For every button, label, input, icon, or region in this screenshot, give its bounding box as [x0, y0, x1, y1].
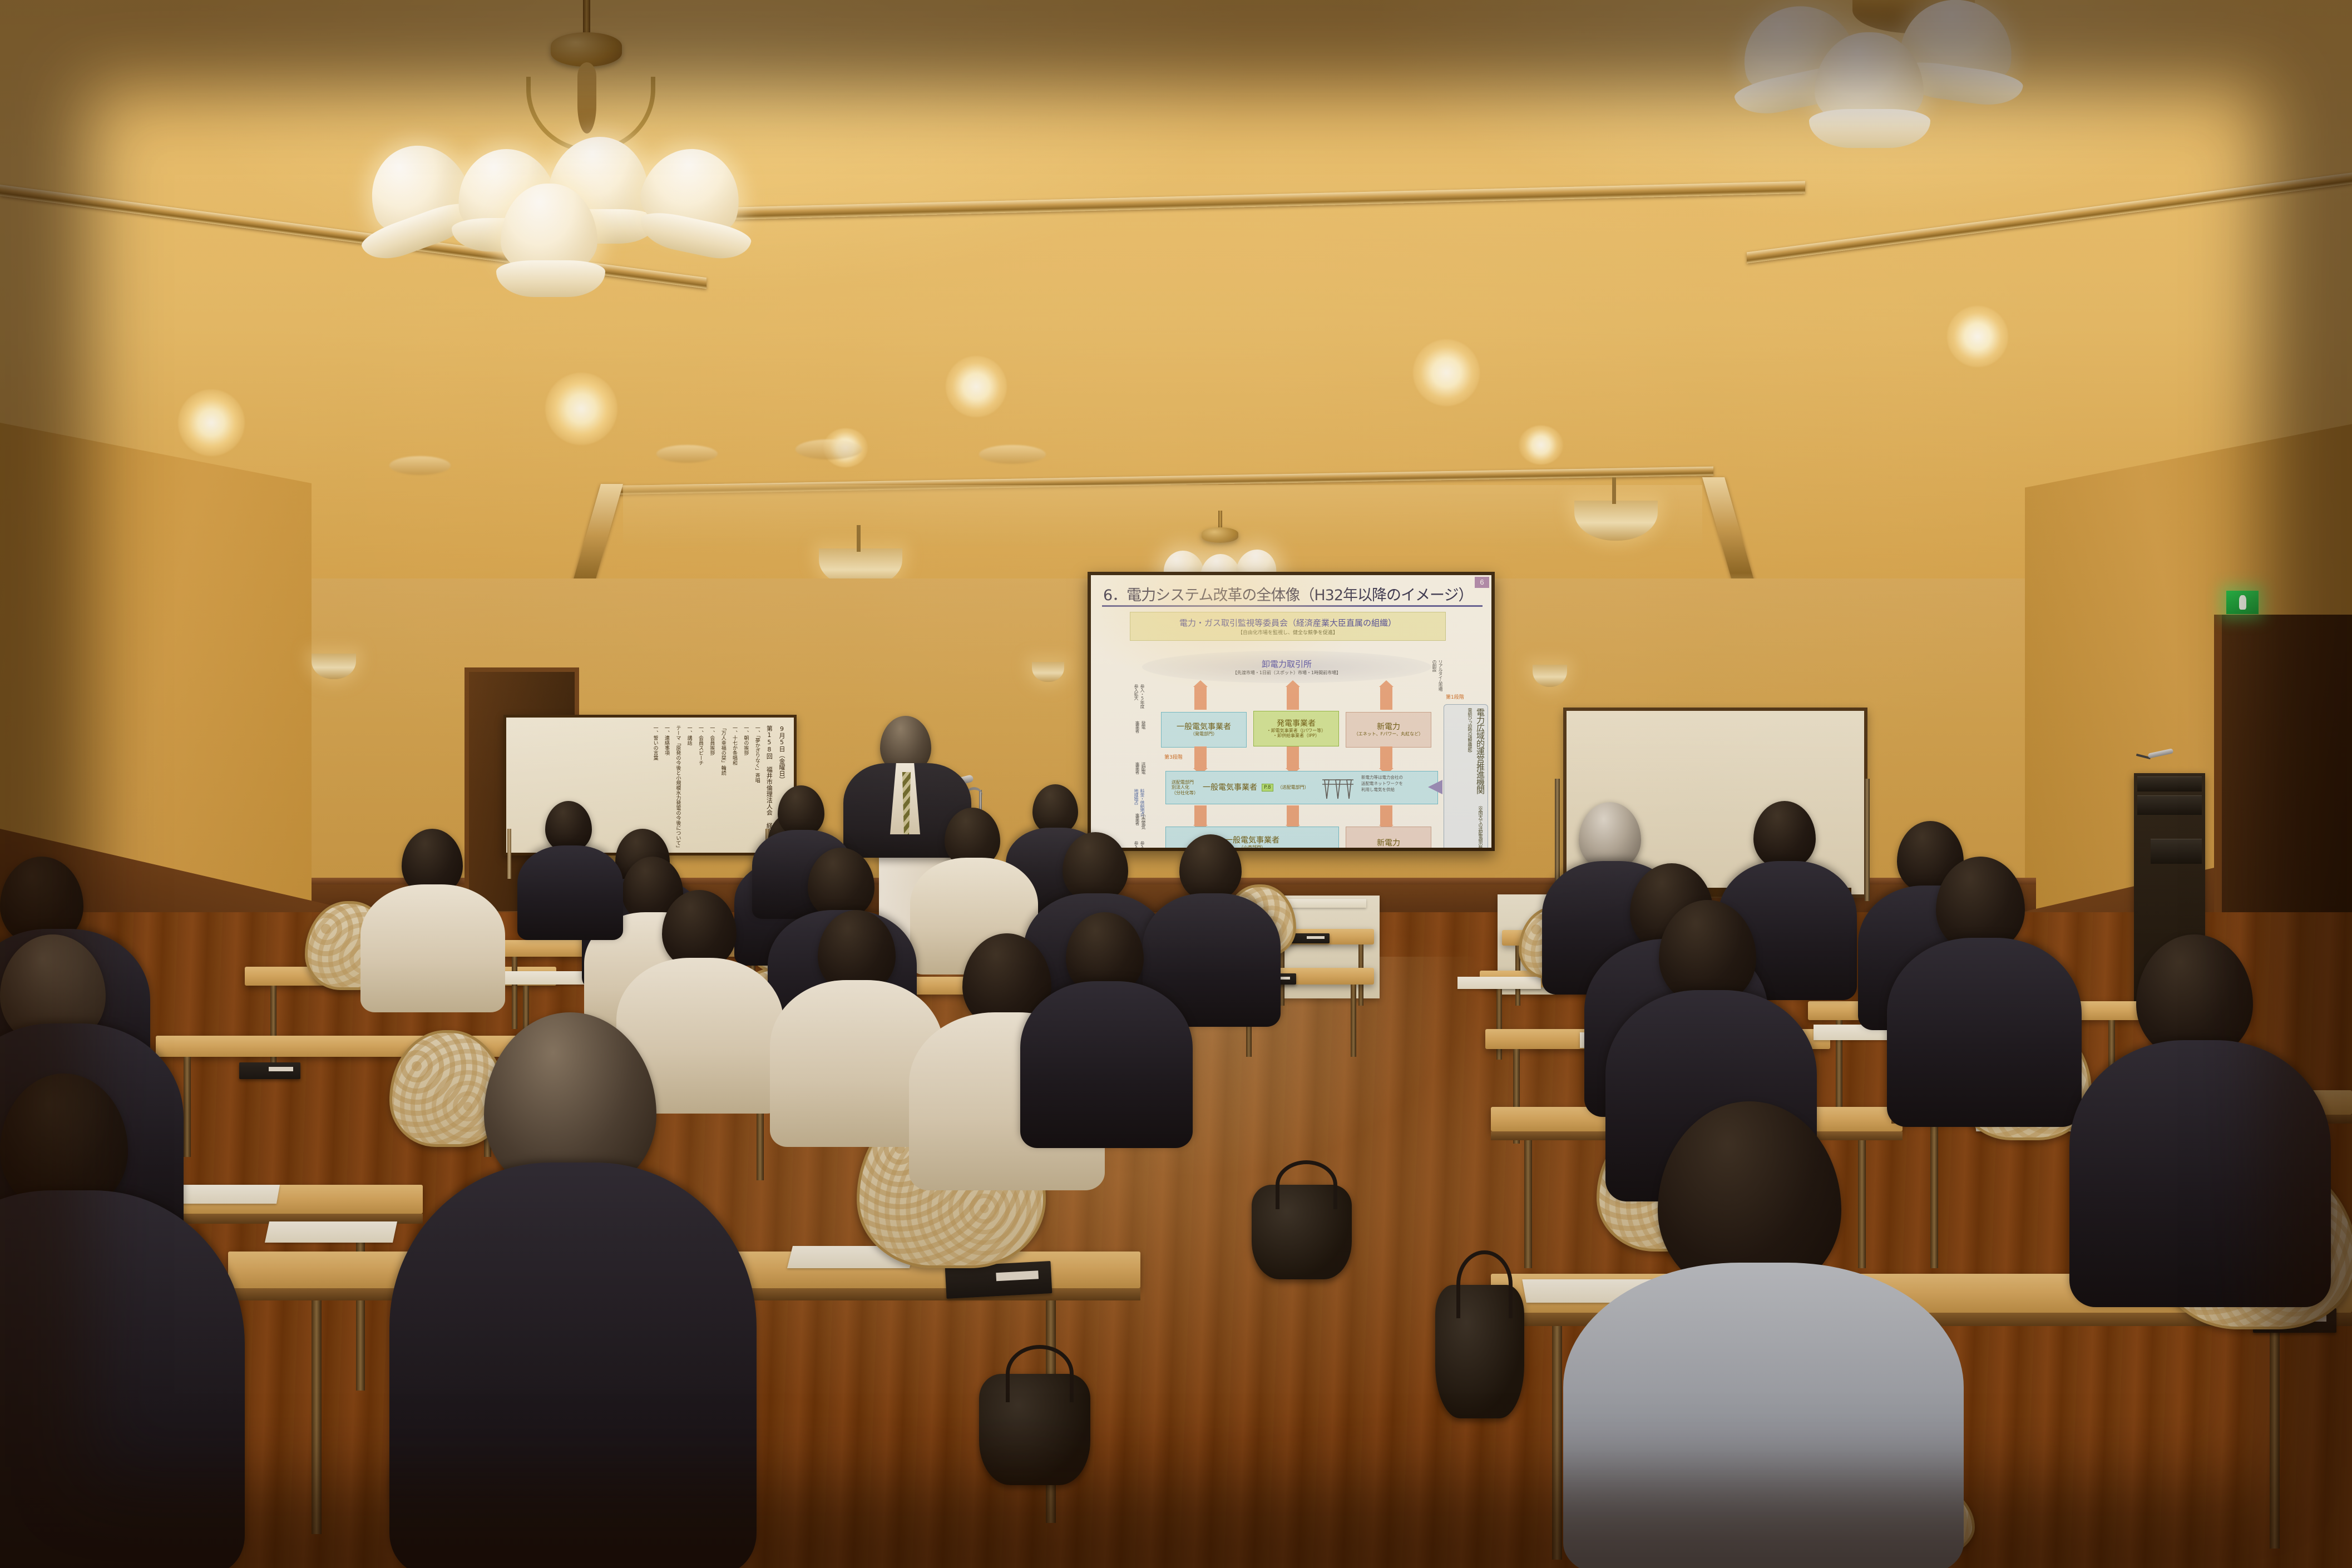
attendee-torso — [1887, 938, 2082, 1127]
agenda-item-2: 一、十七か条唱和 — [732, 725, 737, 845]
gen-incumbent-name: 一般電気事業者 — [1177, 723, 1231, 731]
agenda-item-9: 一、誓いの言葉 — [652, 725, 658, 845]
downlight-1 — [178, 389, 245, 456]
running-person-icon — [2239, 595, 2246, 610]
attendee-torso — [2069, 1040, 2331, 1307]
bag-floor-2 — [1435, 1285, 1524, 1418]
arrow-dn-6 — [1380, 805, 1392, 825]
row-label-trans: 送配電 事業者 — [1134, 762, 1147, 788]
market-sub: 【先渡市場・1日前（スポット）市場・1時間前市場】 — [1233, 670, 1341, 676]
gen-new-sub: （エネット、Fパワー、丸紅など） — [1354, 731, 1423, 736]
attendee-head — [778, 785, 824, 837]
slide-number: 6 — [1475, 577, 1489, 588]
agenda-item-7: テーマ「原発の今後と小規模水力発電の今後について」 — [675, 725, 680, 845]
screen-surface: 6 6．電力システム改革の全体像（H32年以降のイメージ） 電力・ガス取引監視等… — [1091, 575, 1491, 848]
retail-new-name: 新電力 — [1377, 839, 1400, 848]
attendee-torso — [389, 1163, 757, 1568]
attendee-torso — [1563, 1263, 1964, 1568]
transmission-side-note: 新電力等は電力会社の 送配電ネットワークを 利用し電気を供給 — [1361, 774, 1428, 793]
stage-tag-3: 第3段階 — [1164, 753, 1183, 760]
bag-floor-1 — [1252, 1185, 1352, 1279]
downlight-5 — [1947, 306, 2008, 367]
arrow-up-1 — [1194, 686, 1207, 710]
downlight-2 — [545, 373, 617, 445]
gen-producer-name: 発電事業者 — [1277, 719, 1316, 728]
downlight-7 — [1519, 426, 1563, 464]
slide-title-rule — [1102, 605, 1483, 607]
arrow-dn-5 — [1287, 805, 1299, 825]
arrow-dn-4 — [1194, 805, 1207, 825]
market-side-note: リアルタイム市場 の創設 — [1431, 660, 1444, 685]
downlight-3 — [946, 356, 1007, 417]
ceiling-recess-panel — [623, 485, 1702, 546]
transmission-left-note: 送配電部門 別法人化 （分社化等） — [1172, 780, 1198, 795]
gen-box-new: 新電力 （エネット、Fパワー、丸紅など） — [1346, 712, 1431, 748]
retail-incumbent-name: 一般電気事業者 — [1225, 836, 1279, 845]
agenda-item-4: 一、会員挨拶 — [709, 725, 714, 845]
ceiling-vent-4 — [979, 445, 1046, 464]
projection-screen: 6 6．電力システム改革の全体像（H32年以降のイメージ） 電力・ガス取引監視等… — [1088, 572, 1495, 851]
attendee-torso — [0, 1190, 245, 1568]
agenda-item-5: 一、会員スピーチ — [698, 725, 703, 845]
ceiling-vent-1 — [389, 456, 451, 475]
bag-floor-3 — [979, 1374, 1090, 1485]
arrow-up-3 — [1380, 686, 1392, 710]
row-note-retail: 参入・5年度 参入拡大 — [1133, 841, 1145, 848]
arrow-up-2 — [1287, 686, 1299, 710]
arrow-dn-3 — [1380, 746, 1392, 769]
arrow-dn-1 — [1194, 746, 1207, 769]
ceiling-vent-3 — [795, 439, 862, 459]
pendant-rod-left — [857, 525, 861, 552]
regulator-sub: 【自由化市場を監視し、健全な競争を促進】 — [1238, 629, 1338, 636]
attendee-torso — [360, 884, 505, 1012]
av-unit-1 — [2137, 776, 2202, 792]
av-unit-3 — [2151, 839, 2202, 864]
stage-tag-1: 第1段階 — [1446, 693, 1464, 700]
paper-mid-1 — [1457, 977, 1541, 989]
transmission-tower-icon — [1318, 774, 1358, 800]
occto-name: 電力広域的運営推進機関 — [1475, 708, 1485, 794]
presentation-slide: 6 6．電力システム改革の全体像（H32年以降のイメージ） 電力・ガス取引監視等… — [1091, 575, 1491, 848]
agenda-item-8: 一、連絡事項 — [664, 725, 669, 845]
row-note-gen: 参入・5年度 参入拡大 — [1133, 684, 1145, 720]
agenda-item-3: 「万人幸福の栞」輪読 — [720, 725, 725, 845]
regulator-box: 電力・ガス取引監視等委員会（経済産業大臣直属の組織） 【自由化市場を監視し、健全… — [1130, 612, 1446, 641]
regulator-name: 電力・ガス取引監視等委員会（経済産業大臣直属の組織） — [1179, 617, 1396, 629]
photo-scene: 6 6．電力システム改革の全体像（H32年以降のイメージ） 電力・ガス取引監視等… — [0, 0, 2352, 1568]
gen-new-name: 新電力 — [1377, 723, 1400, 731]
whiteboard-leg-right — [1865, 779, 1870, 901]
pendant-rod-right — [1612, 477, 1616, 504]
attendee-head — [1032, 784, 1078, 834]
ceiling-vent-2 — [656, 445, 718, 463]
agenda-item-1: 一、朝の挨拶 — [743, 725, 748, 845]
row-label-retail: 小売電気 事業者 — [1134, 813, 1147, 841]
exit-sign — [2226, 591, 2259, 614]
occto-panel: 電力広域的運営推進機関 （全国大での送配電網の整備・ 需給ひっ迫時の調整機能） — [1444, 704, 1488, 848]
agenda-item-0: 一、「夢かぎりなく」斉唱 — [754, 725, 759, 845]
slide-title: 6．電力システム改革の全体像（H32年以降のイメージ） — [1103, 583, 1471, 605]
row-note-trans: 料金・供給地点 地域独占 — [1133, 789, 1145, 811]
retail-box-new: 新電力 — [1346, 827, 1431, 848]
attendee-head — [545, 801, 592, 852]
paper-back-1 — [1283, 899, 1366, 908]
gen-box-producer: 発電事業者 ・卸電気事業者（Jパワー等） ・卸供給事業者（IPP） — [1253, 711, 1339, 746]
transmission-name: 一般電気事業者 — [1203, 783, 1257, 792]
transmission-sub: （送配電部門） — [1278, 785, 1309, 790]
downlight-4 — [1413, 339, 1480, 406]
retail-incumbent-sub: （小売部門） — [1239, 845, 1266, 848]
market-ellipse: 卸電力取引所 【先渡市場・1日前（スポット）市場・1時間前市場】 — [1142, 651, 1431, 683]
agenda-item-6: 一、講話 — [686, 725, 691, 845]
attendee-torso — [517, 845, 623, 940]
gen-box-incumbent: 一般電気事業者 （発電部門） — [1161, 712, 1247, 748]
paper-front-2 — [265, 1221, 397, 1243]
transmission-badge: P.8 — [1262, 784, 1273, 792]
row-label-gen: 発電 事業者 — [1134, 721, 1147, 746]
gen-incumbent-sub: （発電部門） — [1190, 731, 1217, 736]
attendee-torso — [1020, 981, 1193, 1148]
gen-producer-sub: ・卸電気事業者（Jパワー等） ・卸供給事業者（IPP） — [1267, 728, 1326, 738]
notebook-left-1 — [239, 1062, 300, 1079]
market-name: 卸電力取引所 — [1262, 658, 1312, 670]
av-unit-2 — [2137, 795, 2202, 815]
arrow-dn-2 — [1287, 746, 1299, 769]
